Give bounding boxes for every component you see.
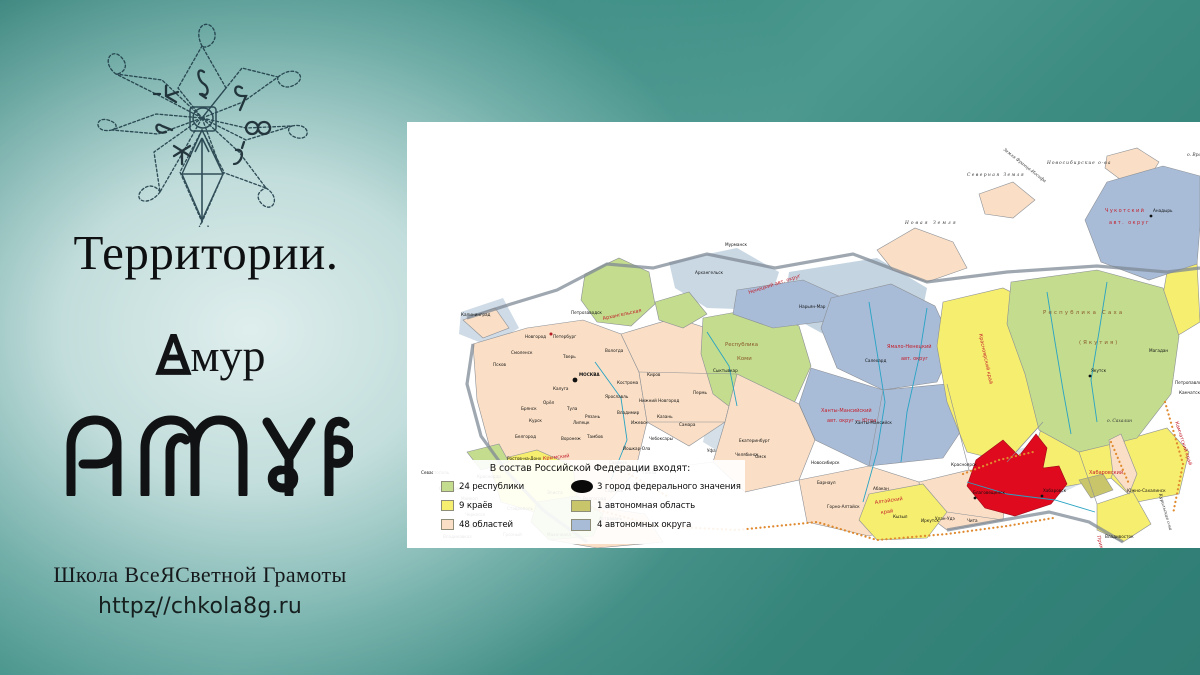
svg-text:Камчатский: Камчатский (1179, 390, 1200, 395)
svg-text:Вологда: Вологда (605, 348, 624, 353)
svg-text:Северная Земля: Северная Земля (967, 173, 1025, 178)
svg-text:Ямало-Ненецкий: Ямало-Ненецкий (887, 343, 931, 350)
svg-text:Ярославль: Ярославль (605, 394, 629, 399)
svg-text:Калининград: Калининград (461, 312, 491, 317)
svg-text:Горно-Алтайск: Горно-Алтайск (827, 504, 860, 509)
svg-text:о. Сахалин: о. Сахалин (1107, 419, 1132, 424)
legend-items: 24 республики 3 город федерального значе… (441, 477, 739, 534)
svg-text:Южно-Сахалинск: Южно-Сахалинск (1127, 488, 1166, 493)
svg-text:Пермь: Пермь (693, 390, 708, 395)
svg-text:Тула: Тула (566, 406, 578, 411)
svg-text:Калуга: Калуга (553, 386, 569, 391)
svg-text:Чукотский: Чукотский (1105, 207, 1145, 214)
svg-text:Архангельск: Архангельск (695, 270, 724, 275)
svg-text:Тверь: Тверь (562, 354, 576, 359)
svg-text:Новосибирск: Новосибирск (811, 460, 840, 465)
svg-text:Ижевск: Ижевск (631, 420, 648, 425)
legend-swatch-autonomous-okrugs (571, 519, 591, 531)
svg-text:Новосибирские о-ва: Новосибирские о-ва (1046, 161, 1111, 166)
vseyasvetnaya-gramota-star-emblem (96, 22, 308, 227)
svg-text:Магадан: Магадан (1149, 348, 1168, 353)
svg-text:Якутск: Якутск (1091, 368, 1107, 373)
svg-text:Екатеринбург: Екатеринбург (739, 438, 770, 443)
svg-text:Казань: Казань (657, 414, 673, 419)
svg-text:Новгород: Новгород (525, 334, 546, 339)
legend-label-republics: 24 республики (459, 482, 567, 492)
svg-text:Киров: Киров (647, 372, 661, 377)
svg-text:Петрозаводск: Петрозаводск (571, 310, 602, 315)
svg-text:Воронеж: Воронеж (561, 436, 581, 441)
legend-title: В состав Российской Федерации входят: (441, 463, 739, 474)
legend-label-federal-cities: 3 город федерального значения (597, 482, 741, 492)
slide-canvas: Территории. Ꙙмур (0, 0, 1200, 675)
svg-text:Улан-Удэ: Улан-Удэ (935, 516, 955, 521)
svg-text:Хабаровский: Хабаровский (1089, 469, 1123, 476)
svg-text:Липецк: Липецк (573, 420, 590, 425)
svg-text:Абакан: Абакан (873, 486, 889, 491)
svg-text:авт. округ: авт. округ (1109, 220, 1150, 226)
subject-word-runic (0, 412, 400, 496)
svg-text:Йошкар-Ола: Йошкар-Ола (623, 446, 651, 451)
svg-text:Нижний Новгород: Нижний Новгород (639, 398, 679, 403)
svg-text:авт. округ: авт. округ (901, 356, 928, 362)
svg-text:Уфа: Уфа (707, 448, 716, 453)
svg-text:Салехард: Салехард (865, 358, 886, 363)
svg-text:Сыктывкар: Сыктывкар (713, 368, 738, 373)
legend-label-oblasts: 48 областей (459, 520, 567, 530)
svg-text:Хабаровск: Хабаровск (1043, 488, 1067, 493)
svg-text:Петербург: Петербург (553, 334, 576, 339)
svg-text:Орёл: Орёл (543, 400, 555, 405)
svg-text:Самара: Самара (679, 422, 696, 427)
left-content-column: Территории. Ꙙмур (0, 0, 400, 675)
svg-text:Барнаул: Барнаул (817, 480, 836, 485)
legend-label-autonomous-oblast: 1 автономная область (597, 501, 741, 511)
svg-text:Ханты-Мансийск: Ханты-Мансийск (855, 420, 892, 425)
svg-text:Владивосток: Владивосток (1105, 534, 1134, 539)
svg-text:Республика: Республика (725, 342, 758, 348)
svg-text:Петропавловск-: Петропавловск- (1175, 380, 1200, 385)
political-map-of-russia[interactable]: .oblast { fill:#fadfc6; stroke:#8d9096; … (407, 122, 1200, 548)
legend-swatch-republics (441, 481, 454, 492)
svg-text:Владимир: Владимир (617, 410, 640, 415)
runic-amur-glyphs (53, 412, 353, 496)
legend-label-autonomous-okrugs: 4 автономных округа (597, 520, 741, 530)
legend-label-krais: 9 краёв (459, 501, 567, 511)
svg-text:Брянск: Брянск (521, 406, 537, 411)
svg-text:Мурманск: Мурманск (725, 242, 748, 247)
map-legend: В состав Российской Федерации входят: 24… (433, 460, 745, 544)
website-url[interactable]: httpʐ//chkola8g.ru (0, 594, 400, 619)
svg-text:Кызыл: Кызыл (893, 514, 908, 519)
svg-text:Белгород: Белгород (515, 434, 536, 439)
svg-text:Смоленск: Смоленск (511, 350, 533, 355)
svg-text:Коми: Коми (737, 356, 752, 362)
page-title: Территории. (0, 228, 400, 279)
svg-text:Чебоксары: Чебоксары (649, 436, 673, 441)
school-name: Школа ВсеЯСветной Грамоты (0, 562, 400, 588)
legend-swatch-oblasts (441, 519, 454, 530)
svg-text:Анадырь: Анадырь (1153, 208, 1173, 213)
svg-text:МОСКВА: МОСКВА (579, 372, 600, 377)
legend-swatch-krais (441, 500, 454, 511)
svg-text:Чита: Чита (967, 518, 978, 523)
subject-word-tail: мур (190, 330, 265, 381)
svg-text:Кострома: Кострома (617, 380, 639, 385)
svg-text:Ханты-Мансийский: Ханты-Мансийский (821, 407, 872, 414)
svg-text:Тамбов: Тамбов (586, 434, 603, 439)
svg-text:Рязань: Рязань (585, 414, 601, 419)
svg-text:Красноярск: Красноярск (951, 462, 977, 467)
svg-text:о. Врангеля: о. Врангеля (1187, 153, 1200, 158)
legend-swatch-autonomous-oblast (571, 500, 591, 512)
svg-text:(Якутия): (Якутия) (1079, 340, 1119, 346)
svg-text:Республика Саха: Республика Саха (1043, 310, 1124, 316)
svg-text:Новая Земля: Новая Земля (904, 221, 958, 226)
svg-text:Псков: Псков (493, 362, 507, 367)
svg-text:Курск: Курск (529, 418, 542, 423)
stylized-a-glyph: Ꙙ (157, 316, 191, 391)
svg-text:Благовещенск: Благовещенск (973, 490, 1005, 495)
subject-word-cyrillic: Ꙙмур (0, 318, 400, 389)
legend-swatch-federal-cities (571, 480, 593, 493)
svg-text:Челябинск: Челябинск (735, 452, 759, 457)
svg-text:Нарьян-Мар: Нарьян-Мар (799, 304, 826, 309)
